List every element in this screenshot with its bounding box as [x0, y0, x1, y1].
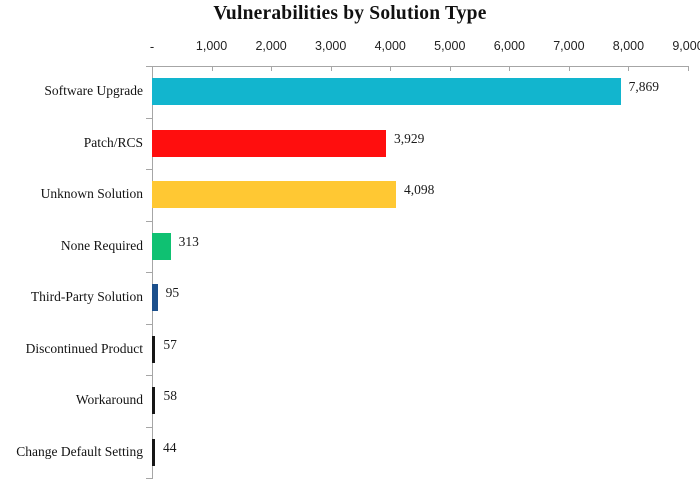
category-label: None Required: [0, 238, 143, 254]
x-tick-label: 5,000: [434, 39, 465, 53]
bar-row: 313None Required: [152, 221, 688, 273]
bar-row: 58Workaround: [152, 375, 688, 427]
x-tick-label: 1,000: [196, 39, 227, 53]
category-label: Patch/RCS: [0, 135, 143, 151]
bar-patch-rcs[interactable]: [152, 130, 386, 157]
category-label: Discontinued Product: [0, 341, 143, 357]
bar-value-label: 7,869: [629, 79, 659, 95]
category-label: Change Default Setting: [0, 444, 143, 460]
category-label: Software Upgrade: [0, 83, 143, 99]
category-label: Workaround: [0, 392, 143, 408]
x-tick-label: -: [150, 39, 154, 54]
bar-value-label: 58: [163, 388, 177, 404]
x-tick-label: 8,000: [613, 39, 644, 53]
x-tick-label: 6,000: [494, 39, 525, 53]
bar-value-label: 95: [166, 285, 180, 301]
plot-area: 7,869Software Upgrade3,929Patch/RCS4,098…: [152, 66, 688, 478]
chart-title: Vulnerabilities by Solution Type: [0, 3, 700, 25]
x-tick-label: 3,000: [315, 39, 346, 53]
bar-chart: Vulnerabilities by Solution Type -1,0002…: [0, 0, 700, 485]
x-tick-mark: [688, 66, 689, 71]
bar-unknown-solution[interactable]: [152, 181, 396, 208]
bar-row: 95Third-Party Solution: [152, 272, 688, 324]
x-tick-label: 9,000: [672, 39, 700, 53]
x-tick-label: 4,000: [375, 39, 406, 53]
y-tick-mark: [146, 478, 152, 479]
bar-row: 44Change Default Setting: [152, 427, 688, 479]
bar-row: 4,098Unknown Solution: [152, 169, 688, 221]
bar-row: 3,929Patch/RCS: [152, 118, 688, 170]
bar-value-label: 57: [163, 337, 177, 353]
bar-value-label: 3,929: [394, 131, 424, 147]
category-label: Unknown Solution: [0, 186, 143, 202]
x-tick-label: 7,000: [553, 39, 584, 53]
bar-none-required[interactable]: [152, 233, 171, 260]
bar-value-label: 4,098: [404, 182, 434, 198]
bar-row: 57Discontinued Product: [152, 324, 688, 376]
bar-discontinued-product[interactable]: [152, 336, 155, 363]
bar-third-party-solution[interactable]: [152, 284, 158, 311]
category-label: Third-Party Solution: [0, 289, 143, 305]
bar-row: 7,869Software Upgrade: [152, 66, 688, 118]
x-tick-label: 2,000: [255, 39, 286, 53]
bar-value-label: 44: [163, 440, 177, 456]
bar-workaround[interactable]: [152, 387, 155, 414]
bar-value-label: 313: [179, 234, 199, 250]
bar-change-default-setting[interactable]: [152, 439, 155, 466]
bar-software-upgrade[interactable]: [152, 78, 621, 105]
